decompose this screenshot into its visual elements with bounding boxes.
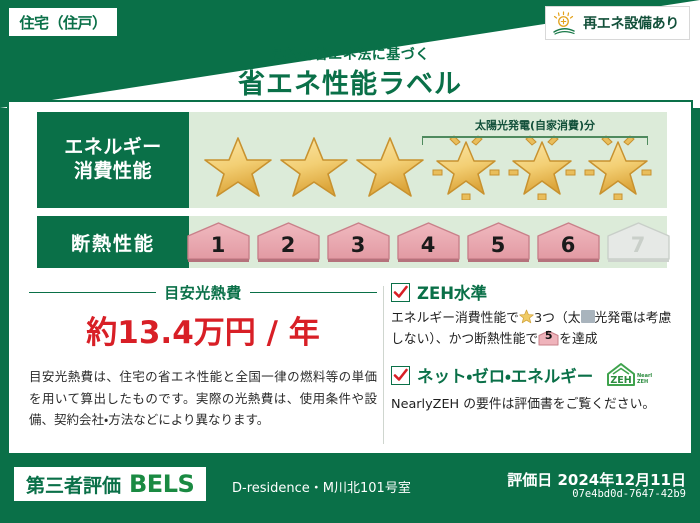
zeh-desc-part1: エネルギー消費性能で [391,311,519,326]
svg-text:ZEH: ZEH [637,379,648,385]
insulation-level-house: 5 [465,221,532,263]
redaction-block [581,310,595,323]
label-subtitle: 建築物省エネ法に基づく [0,44,700,64]
checkbox-checked-icon [391,283,410,302]
insulation-level-group: 1 2 3 [189,216,667,268]
insulation-performance-heading: 断熱性能 [37,216,189,268]
checkbox-checked-icon [391,366,410,385]
sun-energy-icon [552,11,578,35]
insulation-levels-area: 1 2 3 [189,216,667,268]
net-zero-description: NearlyZEH の要件は評価書をご覧ください。 [391,395,683,416]
utility-cost-note: 目安光熱費は、住宅の省エネ性能と全国一律の燃料等の単価を用いて算出したものです。… [29,366,377,431]
insulation-level-number: 6 [561,235,576,263]
solar-bracket-label: 太陽光発電(自家消費)分 [422,117,648,133]
energy-heading-line1: エネルギー [64,136,162,160]
inline-star-icon [519,309,534,324]
net-zero-title-row: ネット・ゼロ・エネルギー ZEH Nearly ZEH [391,362,683,388]
label-lower-section: 目安光熱費 約13.4万円 / 年 目安光熱費は、住宅の省エネ性能と全国一律の燃… [9,278,691,454]
zeh-standard-label: ZEH水準 [417,280,487,304]
insulation-level-house: 6 [535,221,602,263]
star-filled [354,132,426,200]
insulation-level-house: 4 [395,221,462,263]
energy-performance-heading: エネルギー 消費性能 [37,112,189,208]
zeh-desc-part3: を達成 [559,332,597,347]
column-divider [383,286,384,444]
zeh-standard-description: エネルギー消費性能で 3つ（太光発電は考慮しない）、かつ断熱性能で 5を達成 [391,309,683,350]
bels-certification-plate: 第三者評価 BELS [14,467,206,501]
energy-stars-area: 太陽光発電(自家消費)分 [189,112,667,208]
insulation-level-house: 2 [255,221,322,263]
bels-jp-label: 第三者評価 [26,471,121,498]
dwelling-type-badge: 住宅（住戸） [7,6,119,38]
utility-cost-label: 目安光熱費 [164,282,242,303]
heading-rule-left [29,292,156,294]
net-zero-label: ネット・ゼロ・エネルギー [417,363,593,387]
svg-text:ZEH: ZEH [611,375,632,386]
renewable-equipment-badge: 再エネ設備あり [545,6,690,40]
zeh-desc-star-count: 3つ（太 [534,311,581,326]
room-number: 101号室 [360,477,411,496]
utility-cost-column: 目安光熱費 約13.4万円 / 年 目安光熱費は、住宅の省エネ性能と全国一律の燃… [29,278,377,431]
zeh-standard-item: ZEH水準 エネルギー消費性能で 3つ（太光発電は考慮しない）、かつ断熱性能で … [391,280,683,350]
insulation-level-number: 1 [211,235,226,263]
zeh-standard-title-row: ZEH水準 [391,280,683,304]
zeh-logo-icon: ZEH Nearly ZEH [604,362,652,388]
insulation-level-house: 1 [185,221,252,263]
insulation-level-number: 2 [281,235,296,263]
label-body-card: エネルギー 消費性能 太陽光発電(自家消費)分 [7,100,693,455]
bels-en-label: BELS [129,470,194,498]
star-filled [202,132,274,200]
label-footer: 第三者評価 BELS D-residence・M川北 101号室 評価日 202… [0,455,700,523]
mini-insulation-badge-number: 5 [538,330,559,346]
renewable-equipment-label: 再エネ設備あり [583,13,679,33]
mini-insulation-badge: 5 [538,330,559,346]
net-zero-energy-item: ネット・ゼロ・エネルギー ZEH Nearly ZEH NearlyZEH の要… [391,362,683,416]
star-filled [278,132,350,200]
utility-cost-value: 約13.4万円 / 年 [29,307,377,352]
evaluation-date: 評価日 2024年12月11日 [507,469,686,490]
insulation-level-number: 5 [491,235,506,263]
insulation-level-house: 3 [325,221,392,263]
solar-generation-bracket: 太陽光発電(自家消費)分 [422,119,648,145]
heading-rule-right [250,292,377,294]
evaluation-id: 07e4bd0d-7647-42b9 [572,488,686,500]
insulation-performance-row: 断熱性能 1 [37,216,667,268]
insulation-heading-label: 断熱性能 [71,229,155,256]
utility-cost-heading: 目安光熱費 [29,282,377,303]
label-title: 省エネ性能ラベル [0,62,700,101]
insulation-level-house-inactive: 7 [605,221,672,263]
building-name: D-residence・M川北 [232,477,360,496]
energy-performance-label: 住宅（住戸） 再エネ設備あり 建築物省エネ法に基づく 省エネ性能ラベル [0,0,700,523]
zeh-column: ZEH水準 エネルギー消費性能で 3つ（太光発電は考慮しない）、かつ断熱性能で … [391,278,683,416]
energy-performance-row: エネルギー 消費性能 太陽光発電(自家消費)分 [37,112,667,208]
insulation-level-number: 4 [421,235,436,263]
insulation-level-number: 3 [351,235,366,263]
insulation-level-number: 7 [631,235,646,263]
energy-heading-line2: 消費性能 [74,160,152,184]
dwelling-type-label: 住宅（住戸） [19,12,106,33]
